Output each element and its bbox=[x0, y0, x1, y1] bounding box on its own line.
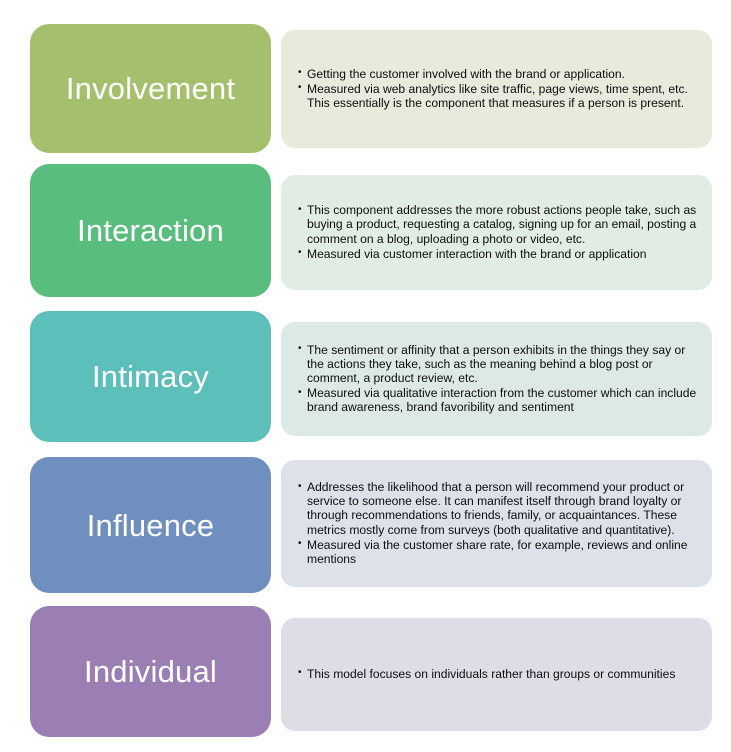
category-label-text: Intimacy bbox=[92, 361, 209, 392]
category-label-text: Individual bbox=[84, 656, 217, 687]
bullet-item: Measured via the customer share rate, fo… bbox=[298, 538, 698, 566]
bullet-item: This model focuses on individuals rather… bbox=[298, 667, 698, 681]
bullet-item: Measured via customer interaction with t… bbox=[298, 247, 698, 261]
category-label-intimacy[interactable]: Intimacy bbox=[30, 311, 271, 442]
description-panel-involvement: Getting the customer involved with the b… bbox=[281, 30, 712, 148]
category-label-involvement[interactable]: Involvement bbox=[30, 24, 271, 153]
bullet-item: The sentiment or affinity that a person … bbox=[298, 343, 698, 385]
bullet-list: The sentiment or affinity that a person … bbox=[298, 343, 698, 415]
bullet-item: Getting the customer involved with the b… bbox=[298, 67, 698, 81]
bullet-item: This component addresses the more robust… bbox=[298, 203, 698, 245]
description-panel-interaction: This component addresses the more robust… bbox=[281, 175, 712, 290]
description-panel-intimacy: The sentiment or affinity that a person … bbox=[281, 322, 712, 436]
category-label-interaction[interactable]: Interaction bbox=[30, 164, 271, 297]
category-label-text: Involvement bbox=[66, 73, 235, 104]
category-label-individual[interactable]: Individual bbox=[30, 606, 271, 737]
category-label-text: Influence bbox=[87, 510, 215, 541]
description-panel-influence: Addresses the likelihood that a person w… bbox=[281, 460, 712, 587]
description-panel-individual: This model focuses on individuals rather… bbox=[281, 618, 712, 731]
category-label-influence[interactable]: Influence bbox=[30, 457, 271, 593]
bullet-list: Addresses the likelihood that a person w… bbox=[298, 480, 698, 567]
bullet-list: This model focuses on individuals rather… bbox=[298, 667, 698, 682]
bullet-list: Getting the customer involved with the b… bbox=[298, 67, 698, 111]
bullet-item: Measured via web analytics like site tra… bbox=[298, 82, 698, 110]
bullet-item: Addresses the likelihood that a person w… bbox=[298, 480, 698, 536]
category-label-text: Interaction bbox=[77, 215, 224, 246]
five-i-model-diagram: Involvement Getting the customer involve… bbox=[0, 0, 731, 752]
bullet-item: Measured via qualitative interaction fro… bbox=[298, 386, 698, 414]
bullet-list: This component addresses the more robust… bbox=[298, 203, 698, 261]
